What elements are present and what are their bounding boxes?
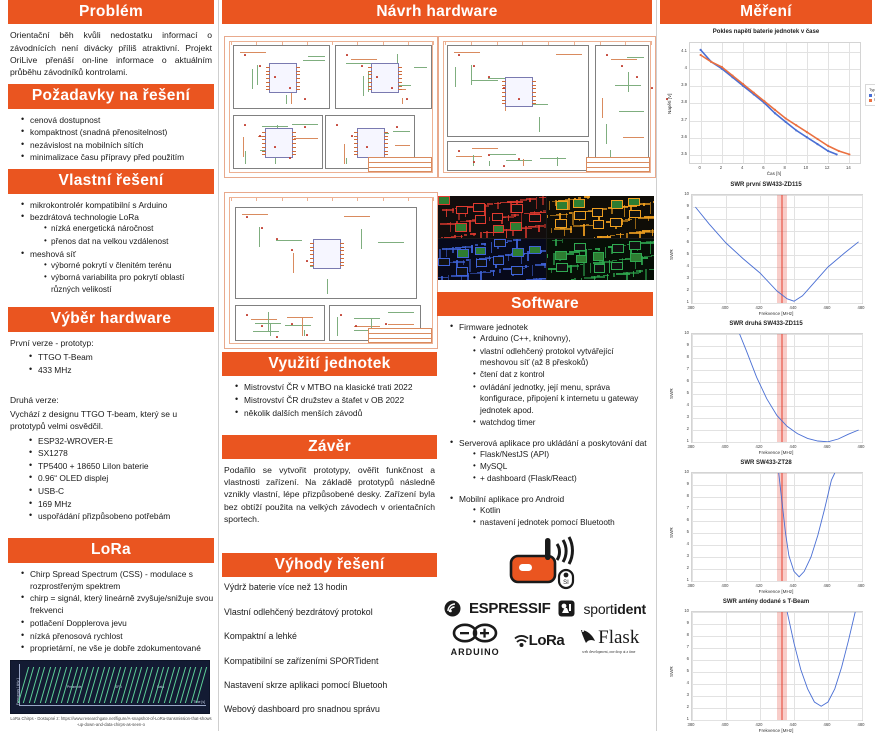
pcb-component bbox=[511, 204, 523, 213]
solution-list: mikrokontrolér kompatibilní s Arduino be… bbox=[8, 199, 214, 295]
chirp-stroke bbox=[196, 667, 207, 703]
x-axis-tick-label: 4 bbox=[735, 165, 749, 170]
schematic-wire bbox=[628, 72, 629, 92]
data-point bbox=[710, 61, 712, 63]
schematic-wire bbox=[257, 65, 258, 85]
schematic-pin bbox=[310, 265, 314, 266]
pcb-trace bbox=[535, 264, 546, 266]
schematic-frame-tick bbox=[307, 197, 308, 201]
schematic-wire bbox=[303, 60, 325, 61]
lora-wordmark: LoRa bbox=[529, 632, 565, 649]
schematic-frame-tick bbox=[231, 197, 232, 201]
pcb-trace bbox=[542, 196, 544, 205]
pcb-component bbox=[592, 208, 604, 217]
schematic-pin bbox=[502, 103, 506, 104]
x-axis-tick-label: 400 bbox=[718, 305, 732, 310]
schematic-junction bbox=[289, 157, 291, 159]
arduino-infinity-icon bbox=[452, 623, 498, 643]
flask-logo: Flask web development, one drop at a tim… bbox=[578, 626, 639, 654]
svg-text:SI: SI bbox=[563, 580, 569, 586]
list-item: meshová síť výborné pokrytí v členitém t… bbox=[22, 248, 214, 296]
y-axis-tick-label: 7 bbox=[676, 366, 689, 371]
pcb-layer-green bbox=[547, 239, 655, 281]
schematic-pin bbox=[532, 100, 536, 101]
x-axis-tick-label: 14 bbox=[841, 165, 855, 170]
chart-5: SWR antény dodané s T-Beam12345678910380… bbox=[663, 599, 869, 734]
schematic-junction bbox=[261, 227, 263, 229]
schematic-frame-tick bbox=[433, 41, 434, 45]
x-axis-tick-label: 380 bbox=[684, 305, 698, 310]
schematic-pin bbox=[296, 86, 300, 87]
list-item: + dashboard (Flask/React) bbox=[473, 473, 653, 485]
grid-line-horizontal bbox=[692, 720, 862, 721]
column-divider-2 bbox=[656, 0, 657, 731]
pcb-trace bbox=[438, 277, 448, 279]
flask-horn-icon bbox=[578, 626, 598, 650]
pcb-trace bbox=[528, 226, 536, 228]
solution-sublist: nízká energetická náročnost přenos dat n… bbox=[30, 223, 214, 247]
pcb-trace bbox=[643, 203, 645, 207]
schematic-sheet-bottom-left bbox=[224, 192, 438, 349]
y-axis-tick-label: 5 bbox=[676, 390, 689, 395]
schematic-junction bbox=[244, 54, 246, 56]
y-axis-tick-label: 8 bbox=[676, 215, 689, 220]
pcb-trace bbox=[473, 233, 475, 236]
schematic-junction bbox=[473, 65, 475, 67]
x-axis-tick-label: 420 bbox=[752, 444, 766, 449]
series-layer bbox=[692, 473, 862, 581]
schematic-wire bbox=[285, 325, 311, 326]
pcb-component bbox=[512, 248, 524, 257]
schematic-wire bbox=[327, 279, 328, 294]
pcb-trace bbox=[442, 209, 454, 211]
schematic-pin bbox=[262, 139, 266, 140]
y-axis-tick-label: 7 bbox=[676, 227, 689, 232]
lora-chirp-figure: Preamble SFD Data Time [s] Frequency [ k… bbox=[10, 660, 212, 727]
schematic-frame-tick bbox=[445, 41, 446, 45]
pcb-trace bbox=[587, 196, 589, 199]
pcb-trace bbox=[550, 215, 560, 217]
y-axis-tick-label: 4 bbox=[676, 402, 689, 407]
y-axis-tick-label: 3 bbox=[676, 275, 689, 280]
schematic-sheet-top-left bbox=[224, 36, 438, 178]
schematic-pin bbox=[292, 136, 296, 137]
pcb-trace bbox=[549, 201, 551, 210]
list-item: uspořádání přizpůsobeno potřebám bbox=[30, 510, 214, 522]
schematic-pin bbox=[384, 151, 388, 152]
list-item-label: Mobilní aplikace pro Android bbox=[459, 494, 564, 504]
x-axis-tick-label: 440 bbox=[786, 444, 800, 449]
pcb-trace bbox=[590, 263, 592, 273]
software-list: Firmware jednotek Arduino (C++, knihovny… bbox=[437, 321, 653, 528]
lora-wave-icon bbox=[514, 629, 529, 651]
schematic-wire bbox=[471, 65, 472, 85]
schematic-wire bbox=[388, 324, 414, 325]
middle-column: Návrh hardware bbox=[222, 0, 437, 29]
schematic-pin bbox=[296, 71, 300, 72]
y-axis-tick-label: 3.7 bbox=[674, 117, 687, 122]
pcb-trace bbox=[464, 234, 467, 236]
schematic-wire bbox=[623, 137, 644, 138]
chart-canvas: 12345678910380400420440460480Frekvence [… bbox=[665, 189, 867, 317]
schematic-pin bbox=[502, 100, 506, 101]
pcb-trace bbox=[446, 248, 448, 257]
schematic-wire bbox=[286, 95, 287, 104]
schematic-pin bbox=[310, 247, 314, 248]
schematic-junction bbox=[458, 150, 460, 152]
pcb-trace bbox=[526, 198, 536, 200]
pcb-trace bbox=[547, 215, 549, 218]
schematic-pin bbox=[266, 67, 270, 68]
schematic-pin bbox=[292, 147, 296, 148]
list-item: výborné pokrytí v členitém terénu bbox=[44, 260, 214, 272]
schematic-chip bbox=[357, 128, 385, 158]
schematic-pin bbox=[532, 85, 536, 86]
logo-row-1: ESPRESSIF sportident bbox=[437, 600, 653, 617]
schematic-pin bbox=[502, 92, 506, 93]
pcb-trace bbox=[613, 273, 615, 277]
pcb-trace bbox=[653, 241, 654, 243]
pcb-trace bbox=[444, 237, 454, 238]
schematic-wire bbox=[287, 317, 313, 318]
device-logo: SI bbox=[489, 534, 601, 596]
schematic-wire bbox=[557, 157, 558, 166]
pcb-trace bbox=[626, 233, 628, 238]
schematic-junction bbox=[351, 135, 353, 137]
schematic-frame-tick bbox=[522, 41, 523, 45]
pcb-trace bbox=[536, 197, 538, 209]
y-axis-tick-label: 3.6 bbox=[674, 134, 687, 139]
schematic-pin bbox=[398, 67, 402, 68]
pcb-trace bbox=[551, 228, 553, 233]
list-item: 433 MHz bbox=[30, 364, 214, 376]
pcb-trace bbox=[497, 202, 499, 209]
flask-tagline: web development, one drop at a time bbox=[578, 650, 639, 654]
list-item: watchdog timer bbox=[473, 417, 653, 429]
pcb-trace bbox=[607, 274, 609, 280]
schematic-block bbox=[233, 45, 330, 109]
x-axis-tick-label: 380 bbox=[684, 583, 698, 588]
x-axis-tick-label: 460 bbox=[820, 444, 834, 449]
x-axis-tick-label: 440 bbox=[786, 305, 800, 310]
x-axis-tick-label: 440 bbox=[786, 722, 800, 727]
lora-chirp-image: Preamble SFD Data Time [s] Frequency [ k… bbox=[10, 660, 210, 714]
data-point bbox=[838, 150, 840, 152]
pcb-trace bbox=[551, 268, 553, 273]
schematic-chip bbox=[371, 63, 399, 93]
section-title-conclusion: Závěr bbox=[222, 435, 437, 459]
pcb-trace bbox=[569, 251, 579, 253]
schematic-junction bbox=[636, 76, 638, 78]
pcb-trace bbox=[487, 203, 492, 205]
schematic-junction bbox=[259, 65, 261, 67]
schematic-junction bbox=[518, 158, 520, 160]
legend-entry: Node bbox=[869, 98, 875, 103]
schematic-wire bbox=[251, 319, 277, 320]
schematic-wire bbox=[627, 57, 644, 58]
list-item: potlačení Dopplerova jevu bbox=[22, 617, 214, 629]
chirp-stroke bbox=[34, 667, 45, 703]
y-axis-tick-label: 9 bbox=[676, 620, 689, 625]
chart-title: SWR SW433-ZT28 bbox=[663, 460, 869, 466]
plot-area bbox=[691, 333, 863, 443]
schematic-pin bbox=[340, 250, 344, 251]
schematic-wire bbox=[619, 111, 644, 112]
list-item: kompaktnost (snadná přenositelnost) bbox=[22, 126, 214, 138]
pcb-trace bbox=[529, 198, 531, 202]
schematic-frame-tick bbox=[256, 197, 257, 201]
y-axis-tick-label: 3.5 bbox=[674, 151, 687, 156]
schematic-junction bbox=[336, 124, 338, 126]
y-axis-tick-label: 4 bbox=[676, 541, 689, 546]
schematic-wire bbox=[308, 56, 325, 57]
schematic-pin bbox=[310, 250, 314, 251]
y-axis-tick-label: 2 bbox=[676, 704, 689, 709]
y-axis-tick-label: 4.1 bbox=[674, 48, 687, 53]
schematic-pin bbox=[340, 247, 344, 248]
chart-3: SWR druhá SW433-ZD1151234567891038040042… bbox=[663, 321, 869, 456]
data-point bbox=[827, 145, 829, 147]
pcb-trace bbox=[570, 265, 572, 273]
schematic-junction bbox=[361, 65, 363, 67]
y-axis-tick-label: 4 bbox=[674, 65, 687, 70]
y-axis-tick-label: 1 bbox=[676, 577, 689, 582]
section-title-usage: Využití jednotek bbox=[222, 352, 437, 376]
chart-canvas: 12345678910380400420440460480Frekvence [… bbox=[665, 606, 867, 734]
x-axis-tick-label: 380 bbox=[684, 722, 698, 727]
list-item: čtení dat z kontrol bbox=[473, 369, 653, 381]
schematic-chip bbox=[505, 77, 533, 107]
schematic-frame-tick bbox=[256, 41, 257, 45]
x-axis-tick-label: 460 bbox=[820, 722, 834, 727]
schematic-junction bbox=[606, 54, 608, 56]
list-item: několik dalších menších závodů bbox=[236, 407, 437, 419]
schematic-pin bbox=[384, 154, 388, 155]
pcb-component bbox=[630, 253, 642, 262]
schematic-pin bbox=[368, 89, 372, 90]
sportident-icon bbox=[558, 600, 575, 617]
pcb-component bbox=[455, 223, 467, 232]
schematic-pin bbox=[532, 92, 536, 93]
pcb-trace bbox=[441, 276, 443, 280]
schematic-wire bbox=[395, 145, 410, 146]
schematic-pin bbox=[266, 86, 270, 87]
measurements-column: Měření Pokles napětí baterie jednotek v … bbox=[660, 0, 872, 738]
schematic-pin bbox=[310, 254, 314, 255]
y-axis-tick-label: 2 bbox=[676, 426, 689, 431]
pcb-component bbox=[611, 262, 623, 271]
chart-canvas: 12345678910380400420440460480Frekvence [… bbox=[665, 467, 867, 595]
chirp-stroke bbox=[88, 667, 99, 703]
schematic-pin bbox=[296, 78, 300, 79]
data-point bbox=[774, 109, 776, 111]
schematic-pin bbox=[502, 85, 506, 86]
pcb-component bbox=[629, 241, 641, 250]
section-title-solution: Vlastní řešení bbox=[8, 169, 214, 193]
list-item: výborná variabilita pro pokrytí oblastí … bbox=[44, 272, 214, 295]
pcb-trace bbox=[600, 236, 602, 238]
pcb-component bbox=[556, 263, 568, 272]
charts-container: Pokles napětí baterie jednotek v čase3.5… bbox=[660, 29, 872, 734]
schematic-frame-tick bbox=[332, 197, 333, 201]
schematic-wire bbox=[393, 131, 410, 132]
pcb-trace bbox=[616, 273, 630, 275]
schematic-junction bbox=[276, 238, 278, 240]
list-item: nízká energetická náročnost bbox=[44, 223, 214, 235]
grid-line-horizontal bbox=[692, 581, 862, 582]
x-axis-tick-label: 400 bbox=[718, 583, 732, 588]
schematic-pin bbox=[310, 243, 314, 244]
pcb-component bbox=[475, 215, 487, 224]
pcb-component bbox=[612, 244, 624, 253]
y-axis-tick-label: 6 bbox=[676, 239, 689, 244]
list-item: vlastní odlehčený protokol vytvářející m… bbox=[473, 346, 653, 369]
schematic-pin bbox=[368, 67, 372, 68]
pcb-trace bbox=[628, 218, 630, 221]
schematic-wire bbox=[489, 161, 490, 166]
y-axis-tick-label: 10 bbox=[676, 608, 689, 613]
schematic-junction bbox=[244, 124, 246, 126]
schematic-wire bbox=[414, 67, 427, 68]
pcb-trace bbox=[573, 225, 585, 227]
schematic-wire bbox=[346, 158, 347, 164]
schematic-wire bbox=[302, 318, 303, 336]
pcb-trace bbox=[642, 230, 650, 232]
schematic-frame-tick bbox=[497, 41, 498, 45]
grid-line-horizontal bbox=[692, 303, 862, 304]
list-item: cenová dostupnost bbox=[22, 114, 214, 126]
schematic-frame-tick bbox=[625, 41, 626, 45]
schematic-pin bbox=[384, 147, 388, 148]
pcb-trace bbox=[594, 237, 596, 238]
data-point bbox=[763, 101, 765, 103]
hardware-v2-list: ESP32-WROVER-E SX1278 TP5400 + 18650 LiI… bbox=[8, 435, 214, 523]
schematic-pin bbox=[354, 132, 358, 133]
data-series-1 bbox=[779, 473, 835, 577]
schematic-frame-tick bbox=[307, 41, 308, 45]
y-axis-tick-label: 3.8 bbox=[674, 99, 687, 104]
schematic-pin bbox=[292, 154, 296, 155]
list-item: TTGO T-Beam bbox=[30, 351, 214, 363]
orilive-device-icon: SI bbox=[489, 534, 601, 596]
problem-text: Orientační běh kvůli nedostatku informac… bbox=[8, 29, 214, 78]
schematic-junction bbox=[385, 323, 387, 325]
pcb-component bbox=[593, 220, 605, 229]
schematic-frame-tick bbox=[548, 41, 549, 45]
pcb-trace bbox=[586, 224, 589, 226]
schematic-wire bbox=[456, 156, 482, 157]
data-point bbox=[827, 150, 829, 152]
schematic-wire bbox=[240, 52, 266, 53]
x-axis-tick-label: 460 bbox=[820, 583, 834, 588]
data-point bbox=[816, 143, 818, 145]
plot-area bbox=[689, 42, 861, 164]
y-axis-tick-label: 9 bbox=[676, 203, 689, 208]
schematic-pin bbox=[262, 147, 266, 148]
pcb-trace bbox=[526, 279, 542, 280]
software-sublist: Flask/NestJS (API) MySQL + dashboard (Fl… bbox=[459, 449, 653, 485]
list-item-label: bezdrátová technologie LoRa bbox=[30, 212, 139, 222]
y-axis-tick-label: 6 bbox=[676, 378, 689, 383]
pcb-trace bbox=[562, 239, 564, 244]
pcb-trace bbox=[610, 235, 615, 237]
pcb-component bbox=[438, 258, 450, 267]
y-axis-tick-label: 1 bbox=[676, 299, 689, 304]
hardware-v1-list: TTGO T-Beam 433 MHz bbox=[8, 351, 214, 376]
data-point bbox=[700, 49, 702, 51]
schematic-junction bbox=[246, 314, 248, 316]
middle-column-lower: Využití jednotek Mistrovství ČR v MTBO n… bbox=[222, 352, 437, 729]
schematic-wire bbox=[490, 154, 516, 155]
plot-area bbox=[691, 611, 863, 721]
schematic-chip bbox=[313, 239, 341, 269]
schematic-wire bbox=[262, 126, 288, 127]
list-item: nezávislost na mobilních sítích bbox=[22, 139, 214, 151]
schematic-pin bbox=[354, 139, 358, 140]
schematic-pin bbox=[266, 82, 270, 83]
schematic-pin bbox=[266, 71, 270, 72]
schematic-title-block bbox=[368, 328, 432, 343]
pcb-component bbox=[629, 210, 641, 219]
pcb-trace bbox=[629, 232, 645, 234]
y-axis-tick-label: 9 bbox=[676, 481, 689, 486]
schematic-frame-tick bbox=[408, 41, 409, 45]
pcb-trace bbox=[640, 203, 650, 205]
chart-title: SWR druhá SW433-ZD115 bbox=[663, 321, 869, 327]
schematic-pin bbox=[266, 74, 270, 75]
series-layer bbox=[692, 334, 862, 442]
left-column: Problém Orientační běh kvůli nedostatku … bbox=[8, 0, 214, 728]
list-item: ESP32-WROVER-E bbox=[30, 435, 214, 447]
espressif-wordmark: ESPRESSIF bbox=[469, 600, 551, 617]
schematic-pin bbox=[384, 132, 388, 133]
y-axis-tick-label: 2 bbox=[676, 287, 689, 292]
schematic-junction bbox=[291, 249, 293, 251]
schematic-wire bbox=[252, 69, 253, 89]
schematic-pin bbox=[354, 147, 358, 148]
x-axis-tick-label: 6 bbox=[756, 165, 770, 170]
data-point bbox=[753, 92, 755, 94]
data-point bbox=[774, 113, 776, 115]
schematic-junction bbox=[503, 87, 505, 89]
chart-1: Pokles napětí baterie jednotek v čase3.5… bbox=[663, 29, 869, 178]
y-axis-tick-label: 10 bbox=[676, 191, 689, 196]
schematic-pin bbox=[292, 139, 296, 140]
schematic-pin bbox=[398, 82, 402, 83]
pcb-trace bbox=[539, 278, 545, 280]
pcb-trace bbox=[543, 210, 545, 212]
list-item-label: Firmware jednotek bbox=[459, 322, 528, 332]
pcb-trace bbox=[597, 275, 600, 277]
schematic-block bbox=[235, 305, 325, 341]
schematic-pin bbox=[266, 89, 270, 90]
schematic-wire bbox=[354, 326, 380, 327]
data-series-1 bbox=[787, 612, 855, 706]
pcb-component bbox=[529, 214, 541, 223]
schematic-wire bbox=[344, 144, 345, 164]
schematic-wire bbox=[337, 317, 338, 336]
schematic-pin bbox=[340, 265, 344, 266]
list-item: Mistrovství ČR družstev a štafet v OB 20… bbox=[236, 394, 437, 406]
schematic-junction bbox=[518, 98, 520, 100]
flask-wordmark: Flask bbox=[598, 627, 639, 649]
pcb-trace bbox=[480, 232, 482, 237]
list-item: mikrokontrolér kompatibilní s Arduino bbox=[22, 199, 214, 211]
list-item: bezdrátová technologie LoRa nízká energe… bbox=[22, 211, 214, 247]
schematic-junction bbox=[306, 334, 308, 336]
x-axis-label: Frekvence [MHz] bbox=[691, 311, 861, 316]
schematic-frame-tick bbox=[383, 41, 384, 45]
